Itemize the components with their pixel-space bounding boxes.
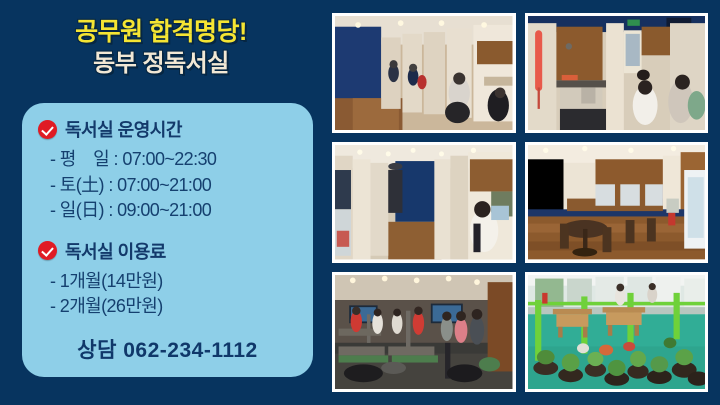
operating-hours-list: - 평 일 : 07:00~22:30 - 토(土) : 07:00~21:00… [38, 147, 297, 224]
study-desk-closeup-photo[interactable] [525, 13, 709, 133]
photo-image [528, 145, 706, 259]
headline-line-1: 공무원 합격명당! [0, 20, 322, 45]
rooftop-garden-photo[interactable] [525, 272, 709, 392]
list-item: - 일(日) : 09:00~21:00 [50, 198, 297, 224]
check-circle-icon [38, 120, 57, 139]
photo-image [335, 16, 513, 130]
photo-image [335, 145, 513, 259]
check-circle-icon [38, 241, 57, 260]
operating-hours-title: 독서실 운영시간 [65, 116, 182, 142]
hallway-photo[interactable] [332, 142, 516, 262]
operating-hours-heading: 독서실 운영시간 [38, 116, 297, 142]
contact-phone-number[interactable]: 상담 062-234-1112 [38, 334, 297, 364]
photo-image [528, 16, 706, 130]
facility-photo-grid [332, 13, 708, 392]
study-cubicles-row-photo[interactable] [332, 13, 516, 133]
list-item: - 평 일 : 07:00~22:30 [50, 147, 297, 173]
info-card: 독서실 운영시간 - 평 일 : 07:00~22:30 - 토(土) : 07… [22, 103, 313, 377]
operating-hours-section: 독서실 운영시간 - 평 일 : 07:00~22:30 - 토(土) : 07… [38, 116, 297, 224]
usage-fee-list: - 1개월(14만원) - 2개월(26만원) [38, 269, 297, 320]
headline-line-2: 동부 정독서실 [0, 52, 322, 76]
list-item: - 토(土) : 07:00~21:00 [50, 173, 297, 199]
lounge-photo[interactable] [525, 142, 709, 262]
gym-photo[interactable] [332, 272, 516, 392]
page-title: 공무원 합격명당! 동부 정독서실 [0, 20, 322, 76]
usage-fee-heading: 독서실 이용료 [38, 238, 297, 264]
usage-fee-title: 독서실 이용료 [65, 238, 166, 264]
photo-image [335, 275, 513, 389]
usage-fee-section: 독서실 이용료 - 1개월(14만원) - 2개월(26만원) [38, 238, 297, 320]
photo-image [528, 275, 706, 389]
study-room-promo-poster: 공무원 합격명당! 동부 정독서실 독서실 운영시간 - 평 일 : 07:00… [0, 0, 720, 405]
list-item: - 1개월(14만원) [50, 269, 297, 295]
left-info-panel: 공무원 합격명당! 동부 정독서실 독서실 운영시간 - 평 일 : 07:00… [0, 0, 322, 405]
list-item: - 2개월(26만원) [50, 294, 297, 320]
